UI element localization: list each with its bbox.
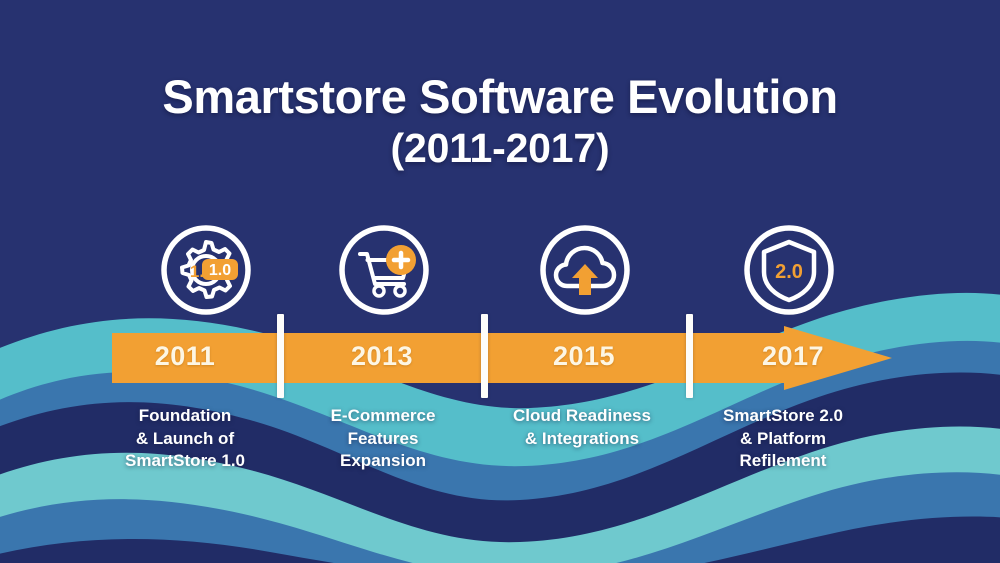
milestone-caption-2017: SmartStore 2.0& PlatformRefilement [678,405,888,473]
milestone-icon-cloud-upload [537,222,633,318]
year-label-2015: 2015 [504,341,664,372]
milestone-icon-shopping-cart [336,222,432,318]
timeline: 1. 1.0 [0,0,1000,563]
cart-wheel-left [374,286,384,296]
cloud-upload-icon [537,222,633,318]
milestone-icon-gear-version: 1. 1.0 [158,222,254,318]
cart-wheel-right [395,286,405,296]
caption-line: SmartStore 1.0 [80,450,290,473]
caption-line: Features [278,428,488,451]
shield-version-icon: 2.0 [741,222,837,318]
caption-line: & Launch of [80,428,290,451]
milestone-caption-2013: E-CommerceFeaturesExpansion [278,405,488,473]
caption-line: Foundation [80,405,290,428]
timeline-divider [277,314,284,398]
timeline-divider [686,314,693,398]
caption-line: & Integrations [477,428,687,451]
milestone-caption-2011: Foundation& Launch ofSmartStore 1.0 [80,405,290,473]
caption-line: E-Commerce [278,405,488,428]
shopping-cart-plus-icon [336,222,432,318]
milestone-icon-shield-version: 2.0 [741,222,837,318]
year-label-2011: 2011 [105,341,265,372]
timeline-divider [481,314,488,398]
year-label-2013: 2013 [302,341,462,372]
icon-ring [342,228,426,312]
caption-line: Refilement [678,450,888,473]
caption-line: Expansion [278,450,488,473]
gear-version-inner-text: 1. [190,262,204,281]
milestone-caption-2015: Cloud Readiness& Integrations [477,405,687,450]
gear-version-icon: 1. 1.0 [158,222,254,318]
year-label-2017: 2017 [713,341,873,372]
upload-arrow-tip [572,264,598,278]
shield-version-text: 2.0 [775,261,803,283]
version-badge-text: 1.0 [209,262,231,279]
caption-line: SmartStore 2.0 [678,405,888,428]
caption-line: Cloud Readiness [477,405,687,428]
infographic-slide: Smartstore Software Evolution (2011-2017… [0,0,1000,563]
caption-line: & Platform [678,428,888,451]
